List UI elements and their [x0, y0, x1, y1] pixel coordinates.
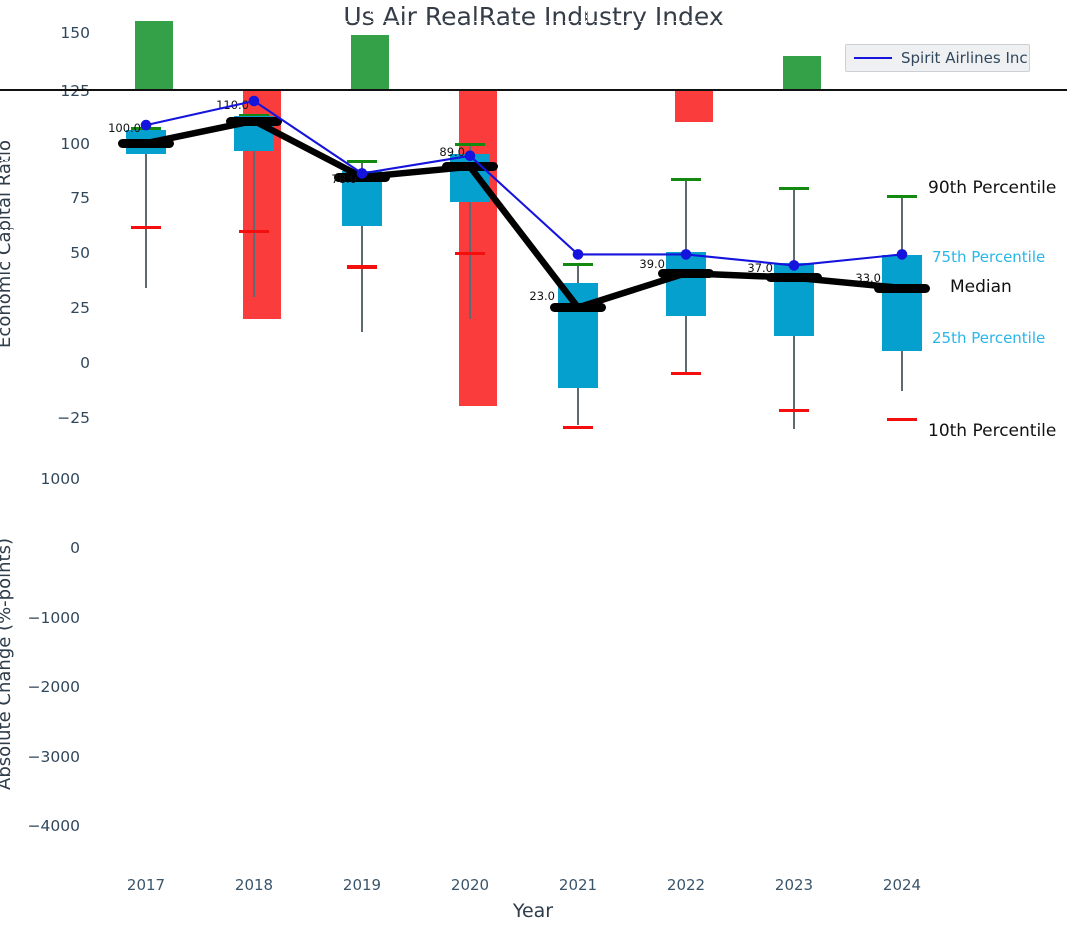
cap90-2019	[347, 160, 377, 163]
annotation-25th-percentile: 25th Percentile	[932, 329, 1045, 347]
x-axis-label: Year	[513, 900, 553, 922]
median-2017	[118, 139, 174, 148]
xtick-2019: 2019	[343, 876, 381, 894]
median-2023	[766, 273, 822, 282]
legend-line-icon	[854, 57, 892, 59]
median-2020	[442, 162, 498, 171]
cap90-2022	[671, 178, 701, 181]
gridline-50	[0, 220, 1067, 221]
bar-2021[interactable]	[459, 90, 497, 406]
gridline-m25	[0, 385, 1067, 386]
cap10-2018	[239, 230, 269, 233]
gridline-b-m2000	[0, 229, 1067, 230]
median-2021	[550, 303, 606, 312]
box-2024[interactable]	[882, 255, 922, 352]
median-label-2019: 78.0	[331, 172, 357, 186]
cap90-2024	[887, 195, 917, 198]
xtick-2020: 2020	[451, 876, 489, 894]
bar-2024[interactable]	[783, 56, 821, 91]
gridline-bx-2024	[802, 0, 803, 942]
xtick-2017: 2017	[127, 876, 165, 894]
y-axis-label-bottom: Absolute Change (%-points)	[0, 538, 15, 790]
xtick-2018: 2018	[235, 876, 273, 894]
xtick-2023: 2023	[775, 876, 813, 894]
median-2018	[226, 117, 282, 126]
bar-2023[interactable]	[675, 90, 713, 121]
cap10-2019	[347, 265, 377, 268]
legend-label: Spirit Airlines Inc	[901, 49, 1028, 67]
annotation-75th-percentile: 75th Percentile	[932, 248, 1045, 266]
xtick-2022: 2022	[667, 876, 705, 894]
box-2022[interactable]	[666, 252, 706, 316]
legend[interactable]: Spirit Airlines Inc	[845, 44, 1030, 72]
cap10-2017	[131, 226, 161, 229]
y-axis-label-top: Economic Capital Ratio	[0, 140, 15, 348]
bar-2020[interactable]	[351, 35, 389, 91]
cap90-2021	[563, 263, 593, 266]
cap10-2021	[563, 426, 593, 429]
gridline-b-m1000	[0, 160, 1067, 161]
xtick-2021: 2021	[559, 876, 597, 894]
cap10-2022	[671, 372, 701, 375]
median-label-2022: 39.0	[639, 257, 665, 271]
median-label-2017: 100.0	[108, 121, 141, 135]
cap90-2023	[779, 187, 809, 190]
xtick-2024: 2024	[883, 876, 921, 894]
gridline-150	[0, 0, 1067, 1]
annotation-median: Median	[950, 277, 1012, 297]
median-2024	[874, 284, 930, 293]
gridline-100	[0, 111, 1067, 112]
cap10-2023	[779, 409, 809, 412]
boxplot-panel	[0, 0, 865, 422]
cap10-2024	[887, 418, 917, 421]
median-label-2018: 110.0	[216, 98, 249, 112]
annotation-90th-percentile: 90th Percentile	[928, 178, 1056, 198]
annotation-10th-percentile: 10th Percentile	[928, 421, 1056, 441]
zero-axis-line	[0, 89, 1067, 91]
barchart-panel	[0, 422, 865, 835]
median-label-2023: 37.0	[747, 261, 773, 275]
median-label-2024: 33.0	[855, 271, 881, 285]
box-2020[interactable]	[450, 154, 490, 202]
gridline-bx-2023	[694, 0, 695, 942]
gridline-b-m4000	[0, 368, 1067, 369]
gridline-bx-2022	[586, 0, 587, 942]
gridline-bx-2020	[370, 0, 371, 942]
median-2022	[658, 269, 714, 278]
box-2021[interactable]	[558, 283, 598, 388]
median-label-2020: 89.0	[439, 145, 465, 159]
median-label-2021: 23.0	[529, 289, 555, 303]
bar-2018[interactable]	[135, 21, 173, 90]
gridline-75	[0, 165, 1067, 166]
cap10-2020	[455, 252, 485, 255]
chart-root: Us Air RealRate Industry Index 150 125 1…	[0, 0, 1067, 942]
